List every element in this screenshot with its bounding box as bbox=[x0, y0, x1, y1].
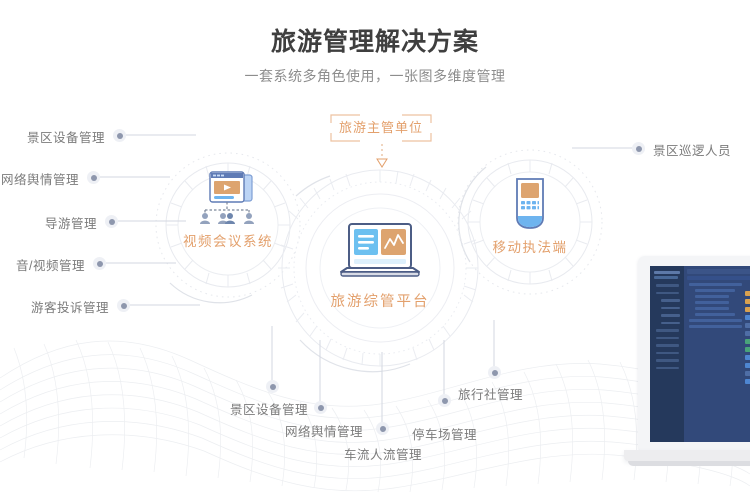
video-conference-icon bbox=[192, 170, 264, 226]
dashboard-chip bbox=[745, 355, 750, 360]
spoke-label-bottom-5[interactable]: 旅行社管理 bbox=[458, 384, 523, 403]
sidebar-nav-item-active bbox=[661, 307, 680, 310]
node-tourism-platform[interactable]: 旅游综管平台 bbox=[310, 222, 450, 311]
sidebar-nav-item bbox=[656, 352, 679, 355]
page-title: 旅游管理解决方案 bbox=[0, 22, 750, 58]
laptop-dashboard-icon-wrap bbox=[310, 222, 450, 286]
authority-label: 旅游主管单位 bbox=[330, 114, 432, 142]
spoke-dot bbox=[105, 215, 118, 228]
dashboard-chip bbox=[745, 315, 750, 320]
dashboard-chip bbox=[745, 299, 750, 304]
dashboard-screenshot bbox=[650, 266, 750, 442]
spoke-dot bbox=[87, 171, 100, 184]
dashboard-chip bbox=[745, 379, 750, 384]
sidebar-nav-item bbox=[656, 284, 679, 287]
laptop-base bbox=[624, 450, 750, 461]
dashboard-chip bbox=[745, 371, 750, 376]
authority-box: 旅游主管单位 bbox=[330, 114, 432, 142]
spoke-dot bbox=[376, 422, 389, 435]
dashboard-chip bbox=[745, 331, 750, 336]
dashboard-chip bbox=[745, 363, 750, 368]
dashboard-chip bbox=[745, 307, 750, 312]
dashboard-row bbox=[695, 295, 729, 298]
spoke-label-bottom-1[interactable]: 景区设备管理 bbox=[230, 399, 308, 418]
spoke-label-left-2[interactable]: 网络舆情管理 bbox=[0, 169, 79, 188]
dashboard-icon-column bbox=[744, 288, 750, 387]
spoke-label-left-4[interactable]: 音/视频管理 bbox=[0, 255, 85, 274]
node-video-conference[interactable]: 视频会议系统 bbox=[168, 170, 288, 250]
spoke-dot bbox=[314, 401, 327, 414]
spoke-label-left-5[interactable]: 游客投诉管理 bbox=[0, 297, 109, 316]
solution-diagram-page: 旅游管理解决方案 一套系统多角色使用，一张图多维度管理 bbox=[0, 0, 750, 498]
node-caption: 视频会议系统 bbox=[168, 230, 288, 250]
sidebar-nav-item bbox=[661, 314, 680, 317]
node-caption: 旅游综管平台 bbox=[310, 290, 450, 311]
dashboard-row bbox=[695, 307, 729, 310]
spoke-label-left-1[interactable]: 景区设备管理 bbox=[0, 127, 105, 146]
dashboard-sidebar bbox=[650, 266, 684, 442]
laptop-mockup bbox=[624, 256, 750, 486]
dashboard-row bbox=[695, 301, 729, 304]
spoke-dot bbox=[488, 366, 501, 379]
spoke-label-bottom-4[interactable]: 停车场管理 bbox=[412, 424, 477, 443]
node-mobile-enforcement[interactable]: 移动执法端 bbox=[468, 176, 592, 256]
page-subtitle: 一套系统多角色使用，一张图多维度管理 bbox=[0, 66, 750, 86]
dashboard-chip bbox=[745, 323, 750, 328]
sidebar-nav-item bbox=[656, 344, 679, 347]
spoke-dot bbox=[113, 129, 126, 142]
dashboard-row bbox=[695, 289, 735, 292]
sidebar-nav-item bbox=[656, 359, 679, 362]
sidebar-nav-item bbox=[656, 337, 679, 340]
sidebar-brand-line bbox=[654, 276, 678, 279]
dashboard-row bbox=[689, 319, 742, 322]
dashboard-main-panel bbox=[684, 266, 750, 442]
laptop-lid bbox=[638, 256, 750, 452]
spoke-dot bbox=[117, 299, 130, 312]
dashboard-topbar bbox=[687, 269, 750, 274]
spoke-label-left-3[interactable]: 导游管理 bbox=[0, 213, 97, 232]
video-conference-icon-wrap bbox=[168, 170, 288, 226]
sidebar-brand-line bbox=[654, 271, 680, 274]
dashboard-chip bbox=[745, 347, 750, 352]
sidebar-nav-item bbox=[661, 299, 680, 302]
dashboard-chip bbox=[745, 339, 750, 344]
sidebar-nav-item bbox=[656, 292, 679, 295]
spoke-dot bbox=[632, 142, 645, 155]
sidebar-nav-item bbox=[661, 322, 680, 325]
handheld-device-icon-wrap bbox=[468, 176, 592, 232]
laptop-foot bbox=[628, 461, 750, 466]
dashboard-row bbox=[695, 313, 735, 316]
dashboard-chip bbox=[745, 291, 750, 296]
spoke-label-right-1[interactable]: 景区巡逻人员 bbox=[653, 140, 731, 159]
handheld-device-icon bbox=[505, 176, 555, 232]
spoke-dot bbox=[438, 394, 451, 407]
dashboard-tabs bbox=[687, 276, 750, 280]
down-arrow-icon bbox=[372, 144, 392, 168]
sidebar-nav-item bbox=[656, 367, 679, 370]
dashboard-row bbox=[689, 325, 742, 328]
node-caption: 移动执法端 bbox=[468, 236, 592, 256]
spoke-dot bbox=[266, 380, 279, 393]
laptop-dashboard-icon bbox=[335, 222, 425, 286]
spoke-label-bottom-2[interactable]: 网络舆情管理 bbox=[285, 421, 363, 440]
dashboard-row bbox=[689, 283, 742, 286]
sidebar-nav-item bbox=[656, 329, 679, 332]
spoke-dot bbox=[93, 257, 106, 270]
spoke-label-bottom-3[interactable]: 车流人流管理 bbox=[344, 444, 422, 463]
